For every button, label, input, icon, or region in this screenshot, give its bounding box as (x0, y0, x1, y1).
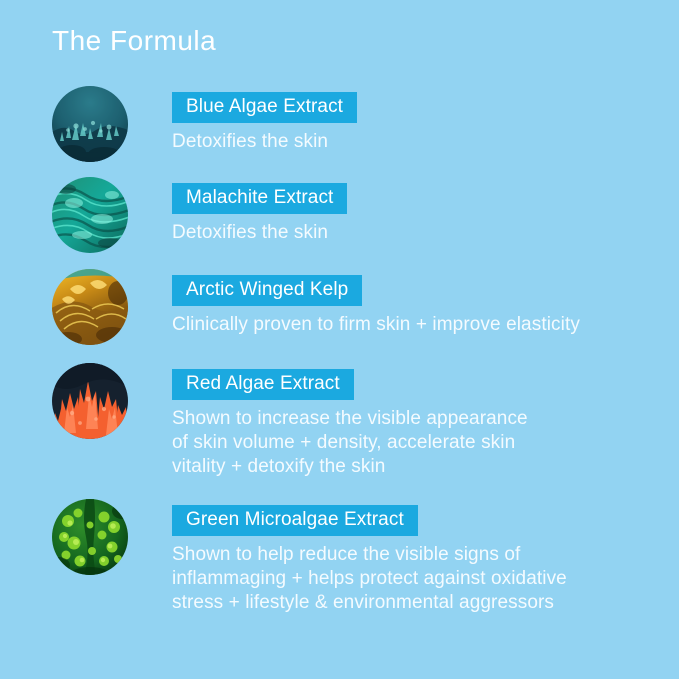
ingredient-name-badge: Green Microalgae Extract (172, 505, 418, 536)
ingredient-description: Shown to increase the visible appearance… (172, 407, 528, 479)
ingredient-row: Green Microalgae Extract Shown to help r… (0, 497, 679, 615)
ingredient-body: Arctic Winged Kelp Clinically proven to … (172, 267, 580, 337)
description-line: Shown to increase the visible appearance (172, 407, 528, 431)
ingredient-body: Green Microalgae Extract Shown to help r… (172, 497, 567, 615)
red-algae-coral-photo (52, 363, 128, 439)
ingredient-name-badge: Arctic Winged Kelp (172, 275, 362, 306)
description-line: inflammaging + helps protect against oxi… (172, 567, 567, 591)
description-line: of skin volume + density, accelerate ski… (172, 431, 528, 455)
description-line: Clinically proven to firm skin + improve… (172, 313, 580, 337)
ingredient-row: Blue Algae Extract Detoxifies the skin (0, 84, 679, 162)
ingredient-list: Blue Algae Extract Detoxifies the skin (0, 84, 679, 615)
arctic-winged-kelp-photo (52, 269, 128, 345)
ingredient-row: Malachite Extract Detoxifies the skin (0, 175, 679, 253)
ingredient-row: Red Algae Extract Shown to increase the … (0, 361, 679, 479)
description-line: stress + lifestyle & environmental aggre… (172, 591, 567, 615)
ingredient-description: Detoxifies the skin (172, 221, 347, 245)
ingredient-description: Clinically proven to firm skin + improve… (172, 313, 580, 337)
formula-panel: The Formula (0, 0, 679, 679)
ingredient-name-badge: Malachite Extract (172, 183, 347, 214)
ingredient-description: Shown to help reduce the visible signs o… (172, 543, 567, 615)
blue-algae-underwater-photo (52, 86, 128, 162)
ingredient-body: Blue Algae Extract Detoxifies the skin (172, 84, 357, 154)
description-line: Shown to help reduce the visible signs o… (172, 543, 567, 567)
description-line: Detoxifies the skin (172, 221, 347, 245)
description-line: Detoxifies the skin (172, 130, 357, 154)
ingredient-name-badge: Red Algae Extract (172, 369, 354, 400)
ingredient-body: Red Algae Extract Shown to increase the … (172, 361, 528, 479)
page-title: The Formula (52, 24, 216, 58)
ingredient-description: Detoxifies the skin (172, 130, 357, 154)
description-line: vitality + detoxify the skin (172, 455, 528, 479)
green-microalgae-micrograph (52, 499, 128, 575)
malachite-mineral-photo (52, 177, 128, 253)
ingredient-name-badge: Blue Algae Extract (172, 92, 357, 123)
ingredient-body: Malachite Extract Detoxifies the skin (172, 175, 347, 245)
ingredient-row: Arctic Winged Kelp Clinically proven to … (0, 267, 679, 345)
